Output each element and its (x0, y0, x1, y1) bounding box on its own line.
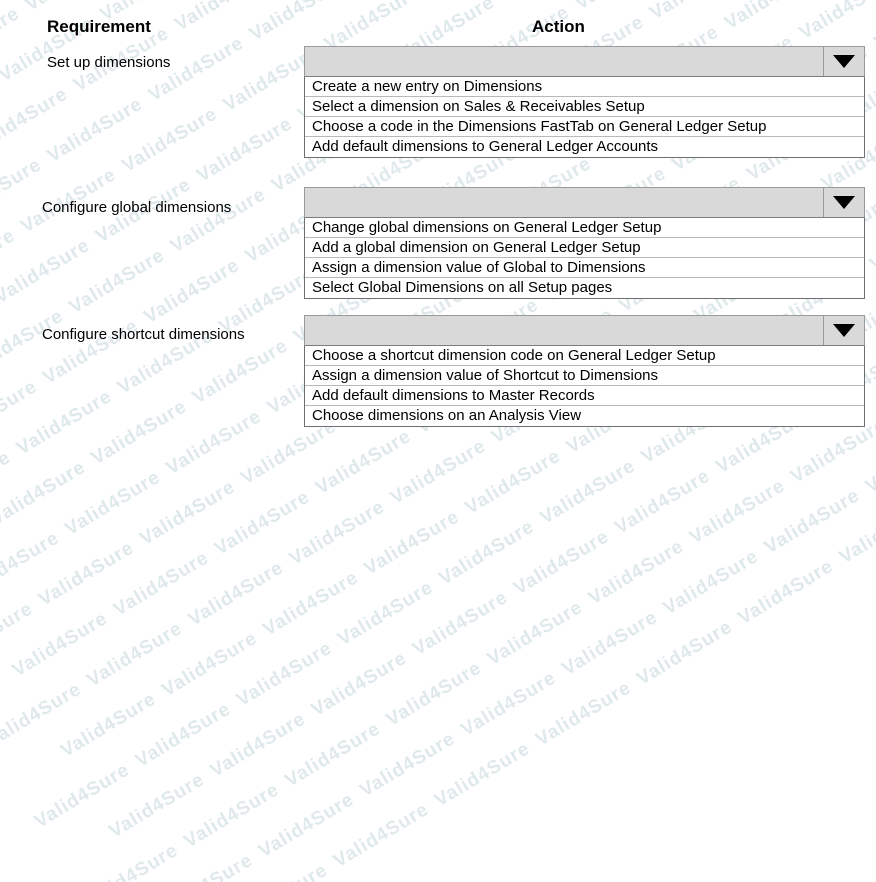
action-options-list-1: Create a new entry on Dimensions Select … (304, 77, 865, 158)
action-combobox-2[interactable] (304, 187, 865, 218)
list-item[interactable]: Assign a dimension value of Global to Di… (305, 258, 864, 278)
action-dropdown-group-2: Change global dimensions on General Ledg… (304, 187, 865, 299)
chevron-down-icon (833, 55, 855, 68)
column-header-requirement: Requirement (47, 17, 151, 37)
list-item[interactable]: Add a global dimension on General Ledger… (305, 238, 864, 258)
chevron-down-icon (833, 196, 855, 209)
action-dropdown-group-3: Choose a shortcut dimension code on Gene… (304, 315, 865, 427)
column-header-action: Action (532, 17, 585, 37)
requirement-label-1: Set up dimensions (47, 54, 170, 71)
dropdown-toggle-3[interactable] (823, 316, 864, 345)
action-combobox-3[interactable] (304, 315, 865, 346)
list-item[interactable]: Choose dimensions on an Analysis View (305, 406, 864, 426)
list-item[interactable]: Select a dimension on Sales & Receivable… (305, 97, 864, 117)
list-item[interactable]: Change global dimensions on General Ledg… (305, 218, 864, 238)
list-item[interactable]: Add default dimensions to General Ledger… (305, 137, 864, 157)
dropdown-toggle-1[interactable] (823, 47, 864, 76)
dropdown-toggle-2[interactable] (823, 188, 864, 217)
action-dropdown-group-1: Create a new entry on Dimensions Select … (304, 46, 865, 158)
list-item[interactable]: Add default dimensions to Master Records (305, 386, 864, 406)
list-item[interactable]: Create a new entry on Dimensions (305, 77, 864, 97)
action-options-list-2: Change global dimensions on General Ledg… (304, 218, 865, 299)
requirement-label-3: Configure shortcut dimensions (42, 326, 245, 343)
list-item[interactable]: Select Global Dimensions on all Setup pa… (305, 278, 864, 298)
list-item[interactable]: Assign a dimension value of Shortcut to … (305, 366, 864, 386)
action-combobox-1[interactable] (304, 46, 865, 77)
requirement-label-2: Configure global dimensions (42, 199, 231, 216)
list-item[interactable]: Choose a code in the Dimensions FastTab … (305, 117, 864, 137)
chevron-down-icon (833, 324, 855, 337)
list-item[interactable]: Choose a shortcut dimension code on Gene… (305, 346, 864, 366)
question-content: Requirement Action Set up dimensions Con… (0, 0, 876, 441)
action-options-list-3: Choose a shortcut dimension code on Gene… (304, 346, 865, 427)
